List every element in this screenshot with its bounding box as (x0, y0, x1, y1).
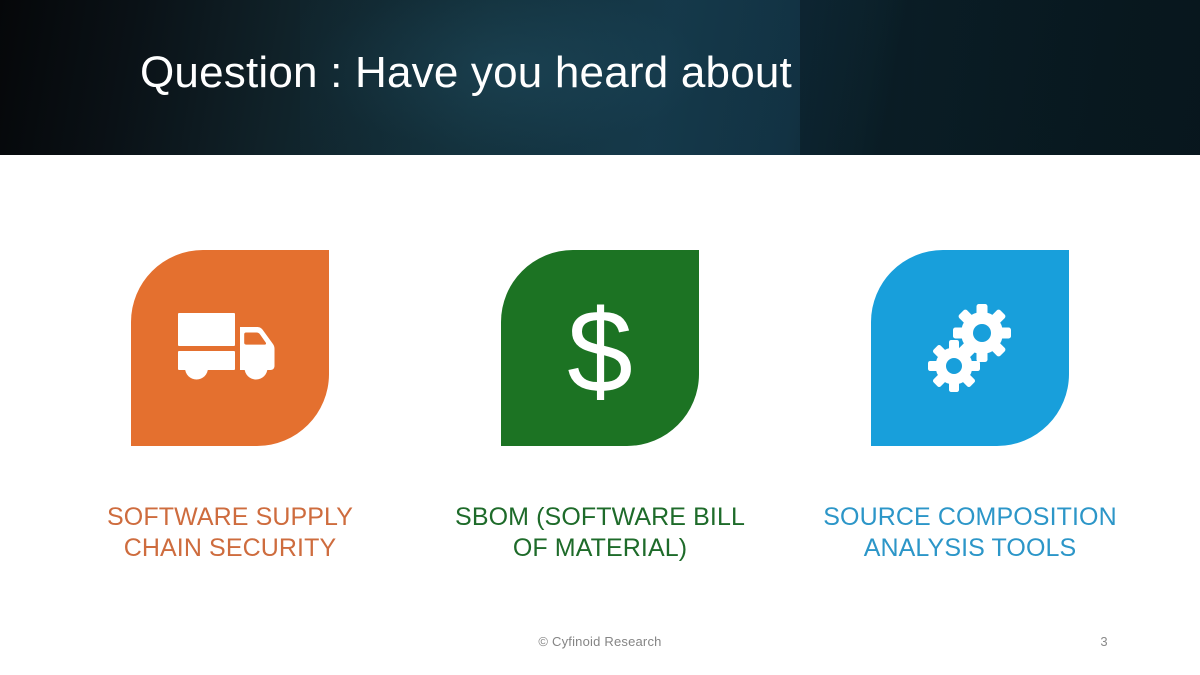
truck-icon (178, 309, 282, 387)
page-number: 3 (1086, 634, 1122, 649)
caption-line-2: ANALYSIS TOOLS (805, 533, 1135, 564)
tile-source-composition-analysis-tools[interactable] (871, 250, 1069, 446)
footer-credit: © Cyfinoid Research (0, 634, 1200, 649)
svg-text:$: $ (567, 292, 633, 404)
card-sbom[interactable]: $ SBOM (SOFTWARE BILL OF MATERIAL) (501, 250, 699, 564)
dollar-sign-icon: $ (556, 292, 644, 404)
tile-software-supply-chain-security[interactable] (131, 250, 329, 446)
card-source-composition-analysis-tools[interactable]: SOURCE COMPOSITION ANALYSIS TOOLS (871, 250, 1069, 564)
caption-software-supply-chain-security: SOFTWARE SUPPLY CHAIN SECURITY (65, 502, 395, 564)
page-title: Question : Have you heard about (140, 44, 792, 102)
caption-source-composition-analysis-tools: SOURCE COMPOSITION ANALYSIS TOOLS (805, 502, 1135, 564)
caption-line-2: CHAIN SECURITY (65, 533, 395, 564)
caption-line-1: SOURCE COMPOSITION (805, 502, 1135, 533)
concept-cards: SOFTWARE SUPPLY CHAIN SECURITY $ SBOM (S… (0, 250, 1200, 564)
slide: Question : Have you heard about (0, 0, 1200, 675)
caption-line-2: OF MATERIAL) (435, 533, 765, 564)
caption-sbom: SBOM (SOFTWARE BILL OF MATERIAL) (435, 502, 765, 564)
caption-line-1: SBOM (SOFTWARE BILL (435, 502, 765, 533)
caption-line-1: SOFTWARE SUPPLY (65, 502, 395, 533)
tile-sbom[interactable]: $ (501, 250, 699, 446)
card-software-supply-chain-security[interactable]: SOFTWARE SUPPLY CHAIN SECURITY (131, 250, 329, 564)
gears-icon (918, 296, 1022, 400)
